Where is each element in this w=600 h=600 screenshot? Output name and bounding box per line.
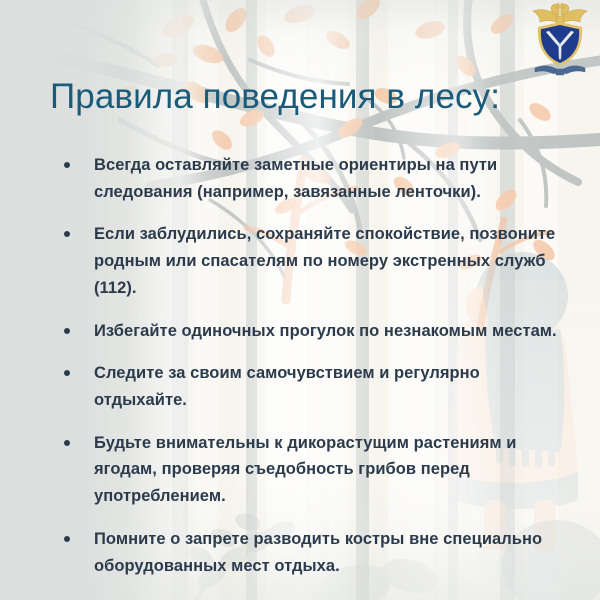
- list-item: Помните о запрете разводить костры вне с…: [58, 526, 558, 579]
- emblem-ribbon: [535, 66, 585, 75]
- rule-text: Избегайте одиночных прогулок по незнаком…: [94, 322, 557, 340]
- bullet-icon: [64, 440, 70, 446]
- emblem-shield: [538, 22, 582, 66]
- list-item: Всегда оставляйте заметные ориентиры на …: [58, 152, 558, 205]
- list-item: Избегайте одиночных прогулок по незнаком…: [58, 318, 558, 345]
- bullet-icon: [64, 231, 70, 237]
- rule-text: Всегда оставляйте заметные ориентиры на …: [94, 156, 497, 201]
- bullet-icon: [64, 162, 70, 168]
- list-item: Будьте внимательны к дикорастущим растен…: [58, 430, 558, 510]
- bullet-icon: [64, 370, 70, 376]
- list-item: Если заблудились, сохраняйте спокойствие…: [58, 221, 558, 301]
- bullet-icon: [64, 536, 70, 542]
- page-title: Правила поведения в лесу:: [50, 73, 520, 121]
- bullet-icon: [64, 328, 70, 334]
- rule-text: Будьте внимательны к дикорастущим растен…: [94, 434, 517, 505]
- rules-list: Всегда оставляйте заметные ориентиры на …: [58, 152, 558, 579]
- rule-text: Если заблудились, сохраняйте спокойствие…: [94, 225, 555, 296]
- russian-double-headed-eagle-shield-emblem: [528, 2, 592, 84]
- list-item: Следите за своим самочувствием и регуляр…: [58, 360, 558, 413]
- poster-root: Правила поведения в лесу: Всегда оставля…: [0, 0, 600, 600]
- rule-text: Помните о запрете разводить костры вне с…: [94, 530, 542, 575]
- rule-text: Следите за своим самочувствием и регуляр…: [94, 364, 480, 409]
